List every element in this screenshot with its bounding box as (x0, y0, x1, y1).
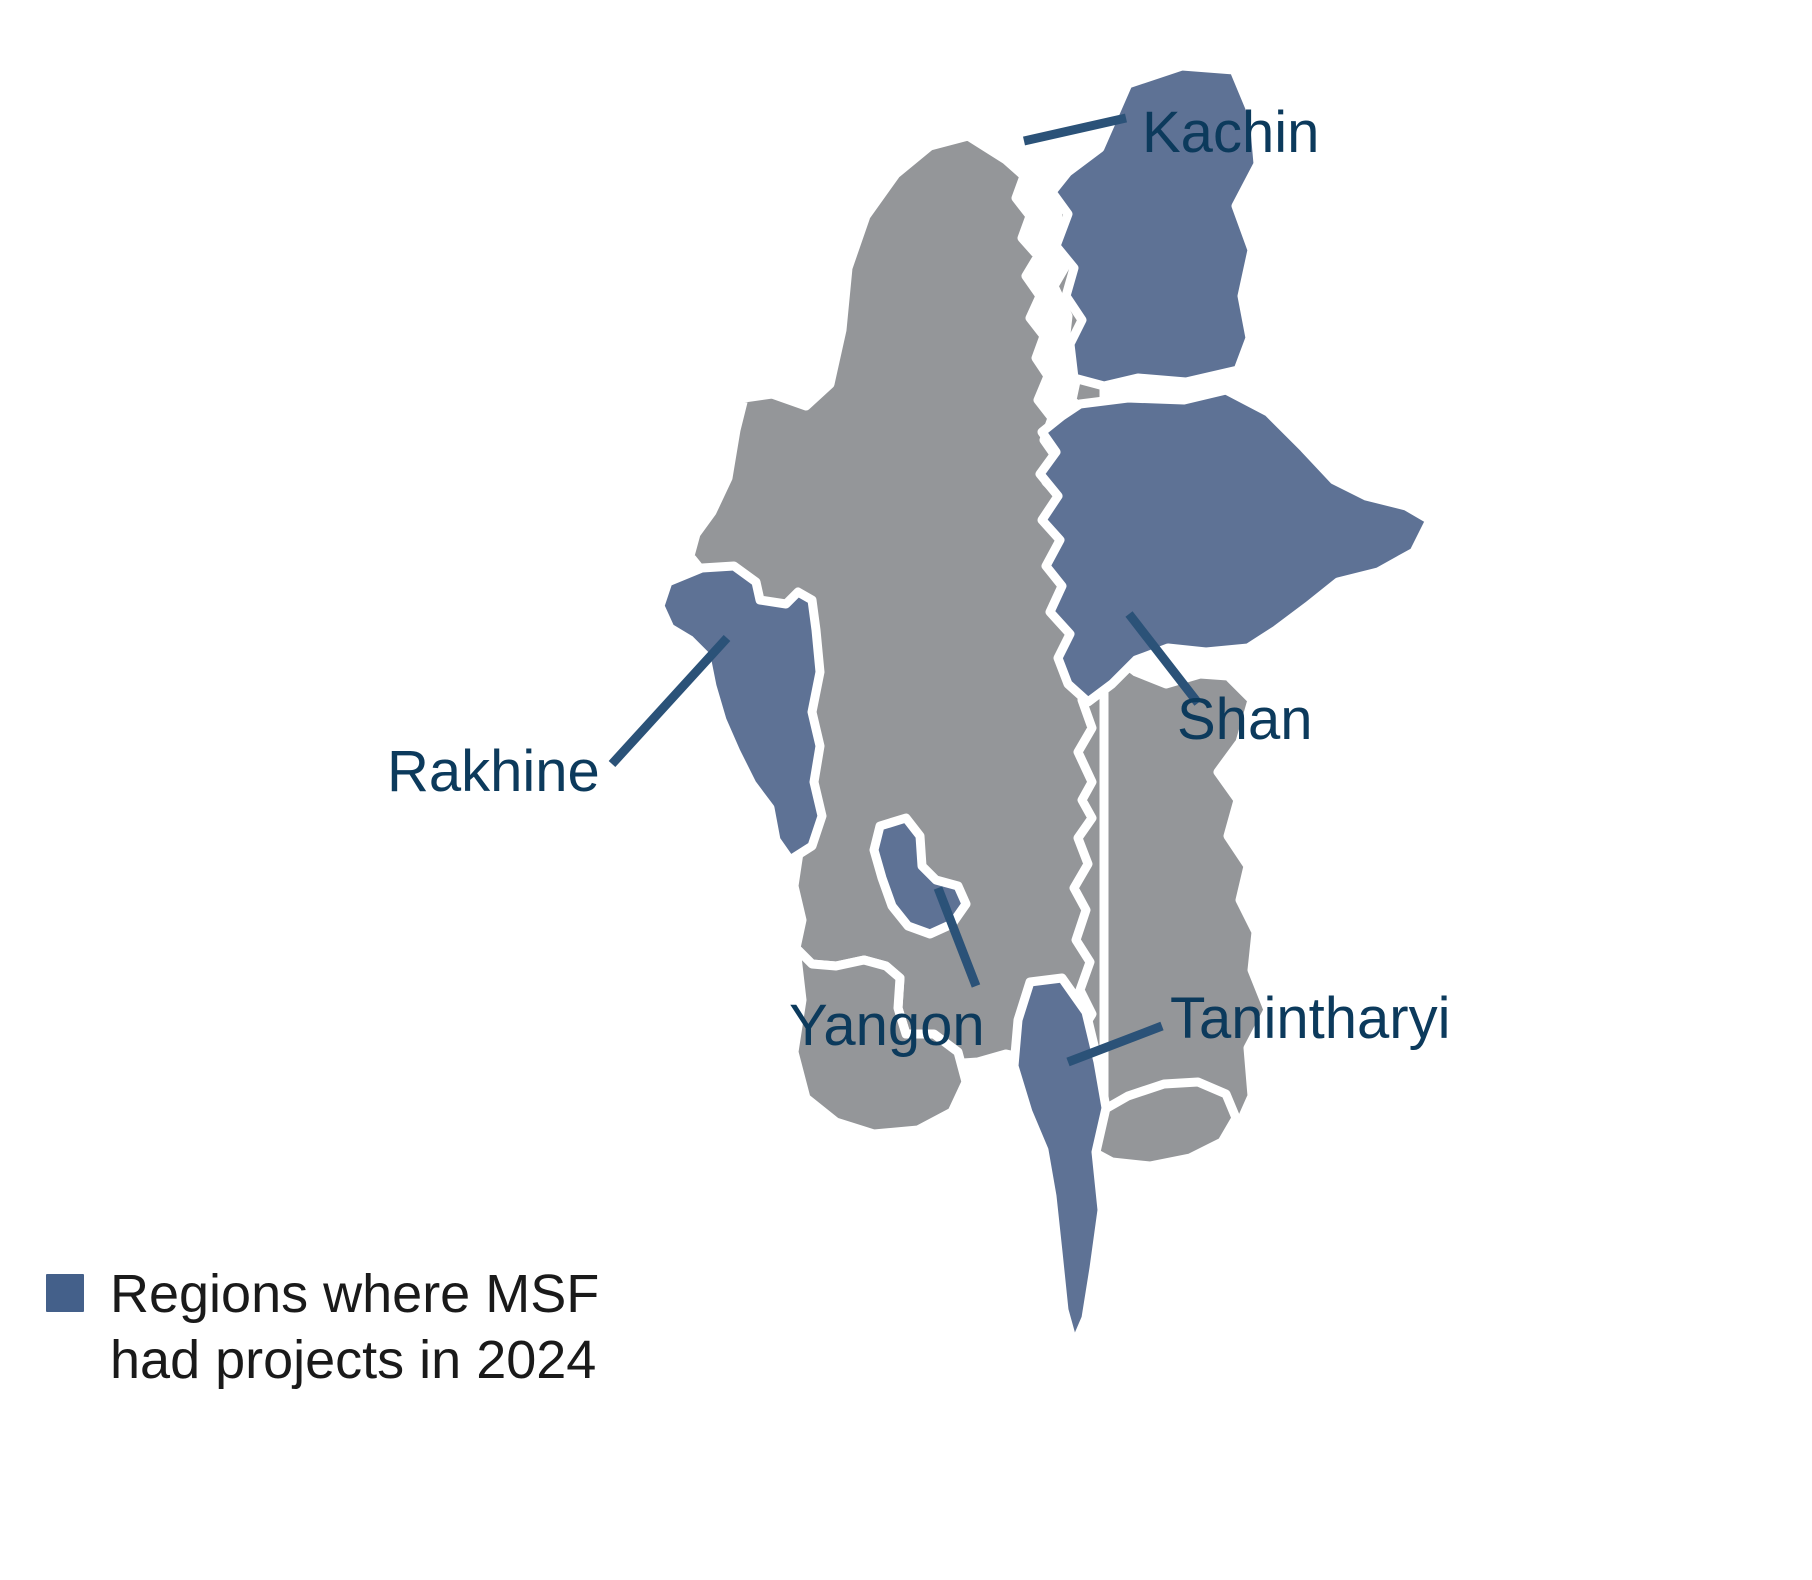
map-label-yangon: Yangon (789, 993, 985, 1058)
map-figure: Kachin Shan Rakhine Yangon Tanintharyi R… (0, 0, 1812, 1580)
leader-line-rakhine (612, 638, 727, 764)
legend-color-swatch (46, 1274, 84, 1312)
region-rakhine[interactable] (660, 566, 822, 860)
map-label-kachin: Kachin (1142, 100, 1319, 165)
map-legend: Regions where MSF had projects in 2024 (46, 1262, 599, 1394)
region-tanintharyi[interactable] (1014, 978, 1106, 1346)
legend-label: Regions where MSF had projects in 2024 (110, 1262, 599, 1394)
map-label-tanintharyi: Tanintharyi (1170, 986, 1450, 1051)
map-label-rakhine: Rakhine (387, 739, 600, 804)
map-label-shan: Shan (1177, 687, 1312, 752)
region-shan[interactable] (1040, 390, 1430, 702)
